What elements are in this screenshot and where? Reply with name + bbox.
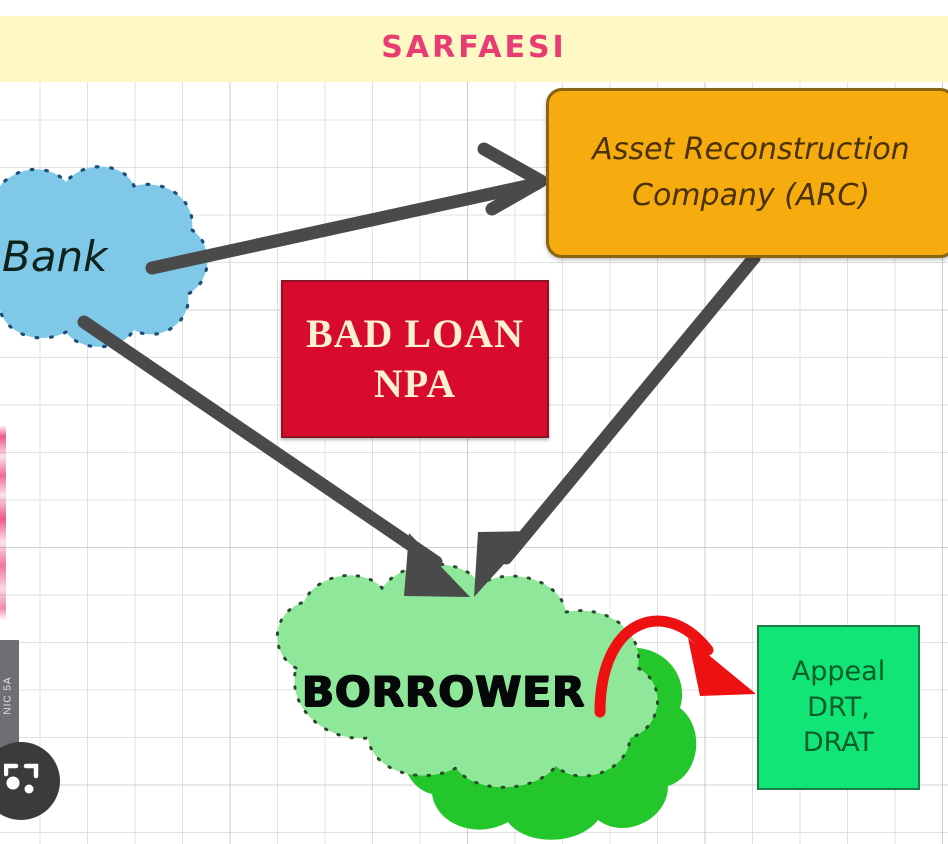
arc-label-line2: Company (ARC) [632, 173, 870, 220]
page-title: SARFAESI [0, 30, 948, 65]
top-white-strip [0, 0, 948, 16]
appeal-node[interactable]: Appeal DRT, DRAT [757, 625, 920, 790]
npa-label-line2: NPA [374, 359, 456, 409]
bad-loan-npa-node[interactable]: BAD LOAN NPA [281, 280, 549, 438]
npa-label-line1: BAD LOAN [306, 309, 524, 359]
appeal-label-line3: DRAT [803, 725, 874, 761]
appeal-label-line1: Appeal [792, 654, 885, 690]
arc-label-line1: Asset Reconstruction [592, 127, 909, 174]
side-gray-tab-label: NIC 5A [3, 646, 14, 746]
screenshot-canvas: SARFAESI [0, 0, 948, 844]
scan-lens-icon [4, 762, 48, 802]
cropped-vertical-pink-text [0, 425, 6, 620]
arc-node[interactable]: Asset Reconstruction Company (ARC) [546, 88, 948, 258]
bank-node-label: Bank [2, 232, 108, 281]
borrower-node-label: BORROWER [302, 667, 585, 716]
appeal-label-line2: DRT, [807, 690, 870, 726]
